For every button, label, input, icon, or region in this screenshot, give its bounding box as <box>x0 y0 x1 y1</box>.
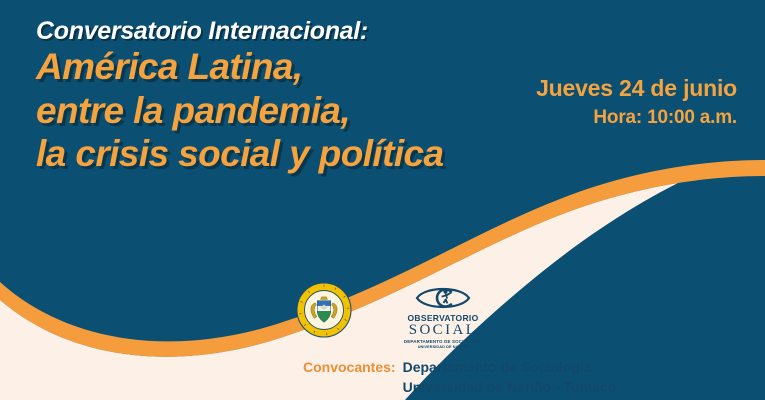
poster-title-line-2: entre la pandemia, <box>36 90 556 131</box>
university-seal <box>296 282 352 338</box>
convocantes-block: Convocantes: Departamento de Sociología … <box>303 357 616 398</box>
poster-title-line-3: la crisis social y política <box>36 133 556 174</box>
event-datetime-block: Jueves 24 de junio Hora: 10:00 a.m. <box>536 74 737 130</box>
eye-icon <box>415 283 471 313</box>
event-poster: Conversatorio Internacional: América Lat… <box>0 0 765 400</box>
logo-row: OBSERVATORIO SOCIAL DEPARTAMENTO DE SOCI… <box>296 282 486 350</box>
convocantes-label: Convocantes: <box>303 357 396 377</box>
observatorio-sub-line2: UNIVERSIDAD DE NARIÑO <box>400 345 486 350</box>
convocantes-line-1: Departamento de Sociología <box>403 357 617 377</box>
poster-title-line-1: América Latina, <box>36 46 556 87</box>
event-time: Hora: 10:00 a.m. <box>536 106 737 131</box>
university-seal-icon <box>296 282 352 338</box>
poster-kicker: Conversatorio Internacional: <box>36 18 556 44</box>
observatorio-sub-line1: DEPARTAMENTO DE SOCIOLOGÍA <box>400 339 486 345</box>
convocantes-line-2: Universidad de Nariño - Tumaco <box>403 377 617 397</box>
event-date: Jueves 24 de junio <box>536 74 737 103</box>
observatorio-social-logo: OBSERVATORIO SOCIAL DEPARTAMENTO DE SOCI… <box>400 282 486 350</box>
headline-block: Conversatorio Internacional: América Lat… <box>36 18 556 175</box>
convocantes-values: Departamento de Sociología Universidad d… <box>403 357 617 398</box>
observatorio-label-line2: SOCIAL <box>400 323 486 339</box>
